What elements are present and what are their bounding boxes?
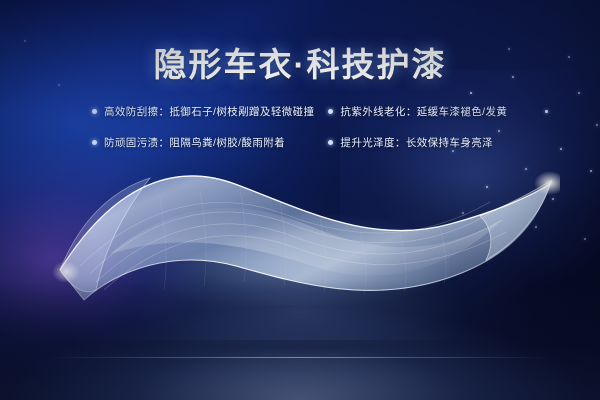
film-under-glow: [120, 215, 450, 305]
feature-item: 提升光泽度：长效保持车身亮泽: [328, 135, 522, 150]
purple-light-glow: [0, 150, 200, 370]
feature-label: 高效防刮擦：抵御石子/树枝剐蹭及轻微碰撞: [104, 104, 314, 119]
feature-list: 高效防刮擦：抵御石子/树枝剐蹭及轻微碰撞 抗紫外线老化：延缓车漆褪色/发黄 防顽…: [92, 104, 522, 150]
dot-bullet-icon: [328, 109, 333, 114]
feature-label: 防顽固污渍：阻隔鸟粪/树胶/酸雨附着: [104, 135, 285, 150]
floor-shadow: [72, 340, 528, 374]
horizon-line: [48, 357, 552, 358]
poster-canvas: 隐形车衣·科技护漆 高效防刮擦：抵御石子/树枝剐蹭及轻微碰撞 抗紫外线老化：延缓…: [0, 0, 600, 400]
protective-film-graphic: [50, 150, 560, 360]
stage-horizon: [0, 280, 600, 400]
dot-bullet-icon: [328, 140, 333, 145]
dot-bullet-icon: [92, 140, 97, 145]
feature-label: 提升光泽度：长效保持车身亮泽: [340, 135, 493, 150]
feature-label: 抗紫外线老化：延缓车漆褪色/发黄: [340, 104, 507, 119]
dot-bullet-icon: [92, 109, 97, 114]
feature-item: 高效防刮擦：抵御石子/树枝剐蹭及轻微碰撞: [92, 104, 314, 119]
poster-title: 隐形车衣·科技护漆: [0, 38, 600, 86]
feature-item: 防顽固污渍：阻隔鸟粪/树胶/酸雨附着: [92, 135, 314, 150]
feature-item: 抗紫外线老化：延缓车漆褪色/发黄: [328, 104, 522, 119]
